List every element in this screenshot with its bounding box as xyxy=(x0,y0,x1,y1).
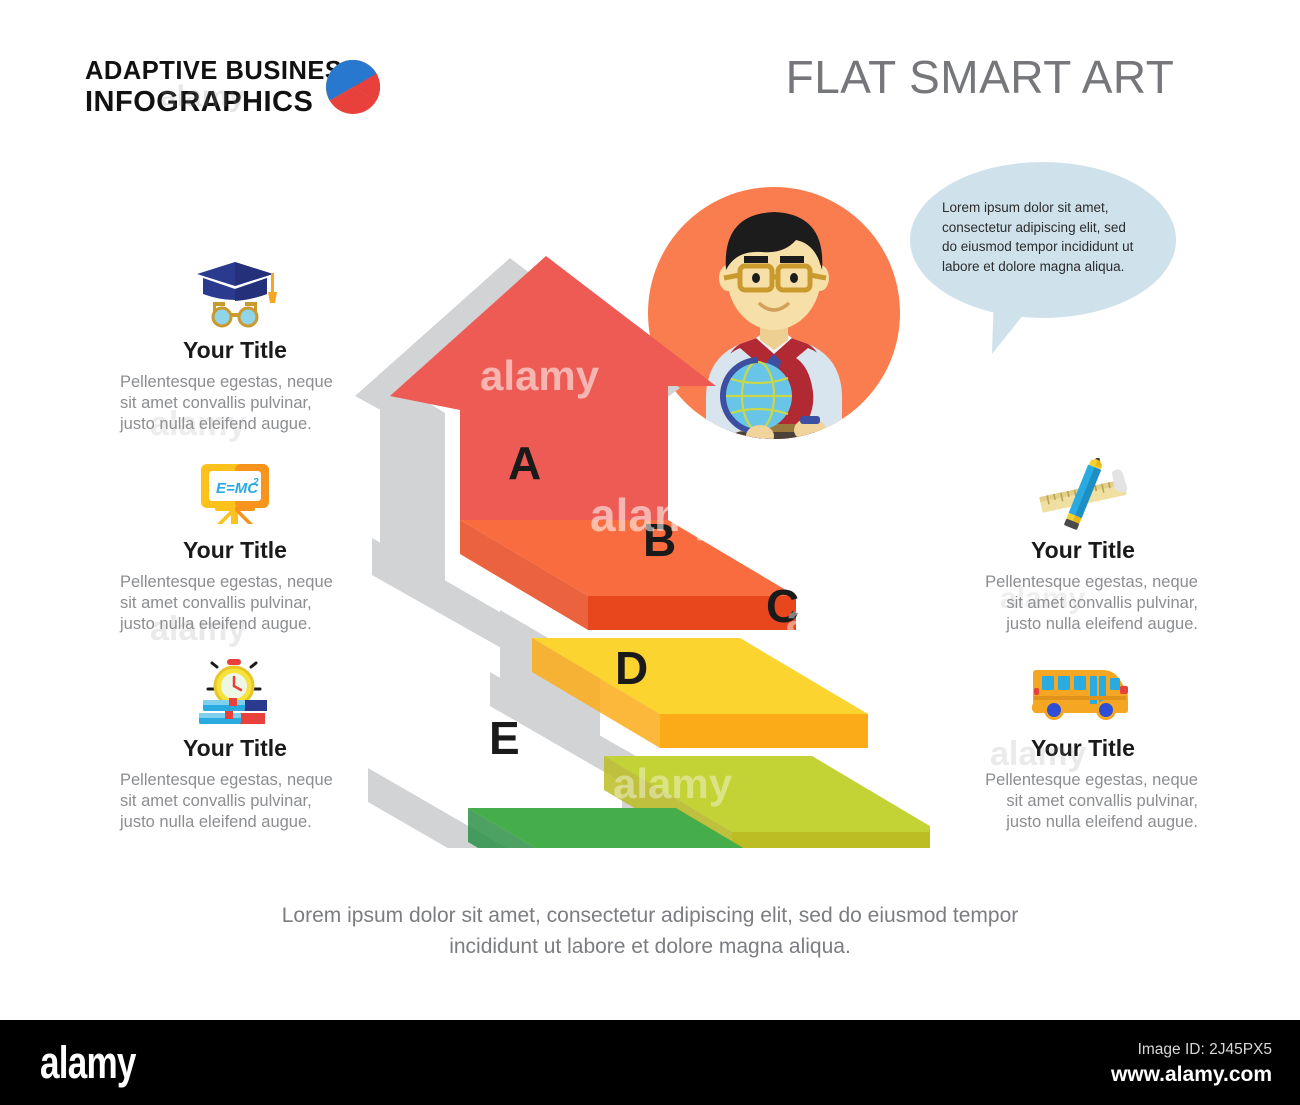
feature-block-pencil-ruler: Your Title Pellentesque egestas, neque s… xyxy=(968,458,1198,635)
footer-caption: Lorem ipsum dolor sit amet, consectetur … xyxy=(250,900,1050,962)
svg-text:2: 2 xyxy=(252,477,259,488)
speech-bubble-text: Lorem ipsum dolor sit amet, consectetur … xyxy=(942,198,1142,276)
pie-chart-icon xyxy=(325,59,381,115)
pencil-ruler-icon xyxy=(968,458,1198,530)
poster-canvas: ADAPTIVE BUSINESS INFOGRAPHICS FLAT SMAR… xyxy=(0,0,1300,1020)
image-id-text: Image ID: 2J45PX5 xyxy=(1138,1040,1272,1060)
feature-body: Pellentesque egestas, neque sit amet con… xyxy=(120,372,350,435)
feature-body: Pellentesque egestas, neque sit amet con… xyxy=(968,770,1198,833)
feature-title: Your Title xyxy=(968,536,1198,564)
step-label-a: A xyxy=(508,440,541,486)
step-label-b: B xyxy=(643,517,676,563)
feature-body: Pellentesque egestas, neque sit amet con… xyxy=(120,572,350,635)
alamy-logo: alamy xyxy=(40,1040,136,1085)
isometric-staircase-chart xyxy=(350,248,930,848)
brand-logo: ADAPTIVE BUSINESS INFOGRAPHICS xyxy=(85,56,395,126)
step-label-e: E xyxy=(489,715,520,761)
feature-title: Your Title xyxy=(120,536,350,564)
feature-body: Pellentesque egestas, neque sit amet con… xyxy=(120,770,350,833)
clock-on-books-icon xyxy=(120,656,350,728)
alamy-footer-bar: alamy Image ID: 2J45PX5 www.alamy.com xyxy=(0,1020,1300,1105)
feature-body: Pellentesque egestas, neque sit amet con… xyxy=(968,572,1198,635)
alamy-url[interactable]: www.alamy.com xyxy=(1111,1062,1272,1088)
whiteboard-emc2-icon: E=MC 2 xyxy=(120,458,350,530)
feature-block-whiteboard: E=MC 2 Your Title Pellentesque egestas, … xyxy=(120,458,350,635)
feature-block-clock-books: Your Title Pellentesque egestas, neque s… xyxy=(120,656,350,833)
step-label-d: D xyxy=(615,645,648,691)
step-label-c: C xyxy=(766,583,799,629)
feature-block-school-bus: Your Title Pellentesque egestas, neque s… xyxy=(968,656,1198,833)
feature-title: Your Title xyxy=(120,734,350,762)
school-bus-icon xyxy=(968,656,1198,728)
page-title: FLAT SMART ART xyxy=(700,50,1260,104)
graduation-cap-icon xyxy=(120,258,350,330)
feature-title: Your Title xyxy=(968,734,1198,762)
feature-block-graduation: Your Title Pellentesque egestas, neque s… xyxy=(120,258,350,435)
feature-title: Your Title xyxy=(120,336,350,364)
